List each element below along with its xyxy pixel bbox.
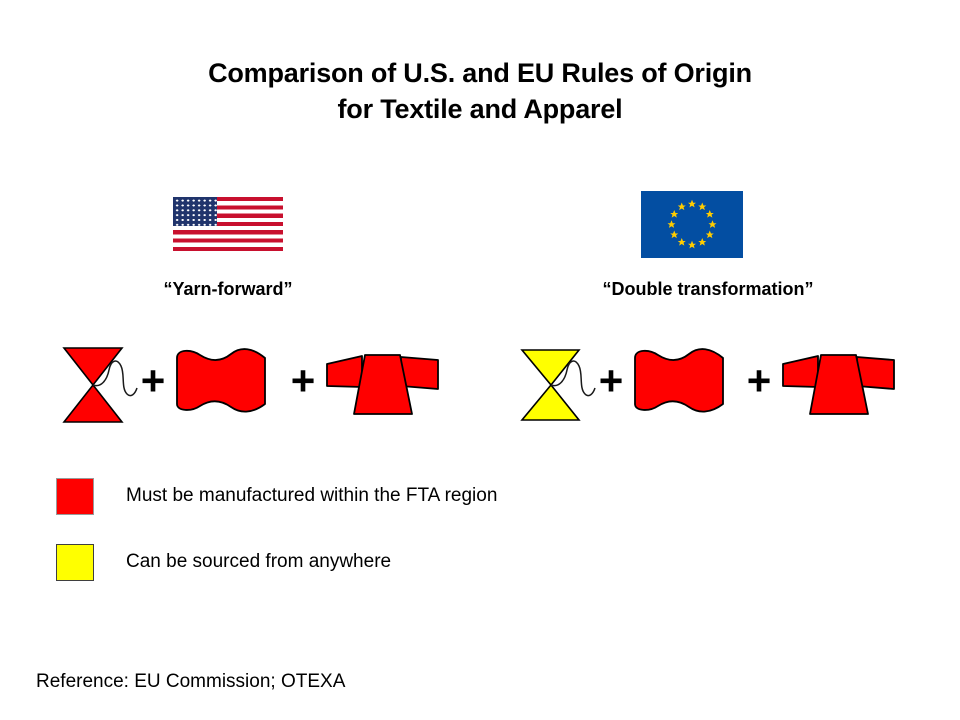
- legend-swatch-yellow: [56, 544, 94, 581]
- eu-operator-1: +: [591, 336, 631, 426]
- us-flag-icon: [173, 197, 283, 251]
- eu-flag-stars: [641, 191, 743, 258]
- us-process-row: + +: [55, 336, 460, 426]
- us-garment-icon: [325, 336, 445, 426]
- eu-process-row: + +: [513, 336, 913, 426]
- eu-garment-icon: [781, 336, 901, 426]
- page-title-line-2: for Textile and Apparel: [0, 91, 960, 127]
- eu-flag-icon: [641, 191, 743, 258]
- us-flag-canton: [173, 197, 217, 226]
- eu-fabric-icon: [631, 336, 736, 426]
- eu-operator-2: +: [739, 336, 779, 426]
- us-operator-1: +: [133, 336, 173, 426]
- page-title: Comparison of U.S. and EU Rules of Origi…: [0, 55, 960, 127]
- legend-label-red: Must be manufactured within the FTA regi…: [126, 483, 497, 509]
- us-fabric-icon: [173, 336, 278, 426]
- reference-note: Reference: EU Commission; OTEXA: [36, 669, 345, 695]
- us-flag-stars: [173, 197, 217, 226]
- eu-rule-caption: “Double transformation”: [480, 279, 936, 300]
- page-title-line-1: Comparison of U.S. and EU Rules of Origi…: [0, 55, 960, 91]
- legend-label-yellow: Can be sourced from anywhere: [126, 549, 391, 575]
- legend-swatch-red: [56, 478, 94, 515]
- us-rule-caption: “Yarn-forward”: [0, 279, 456, 300]
- us-operator-2: +: [283, 336, 323, 426]
